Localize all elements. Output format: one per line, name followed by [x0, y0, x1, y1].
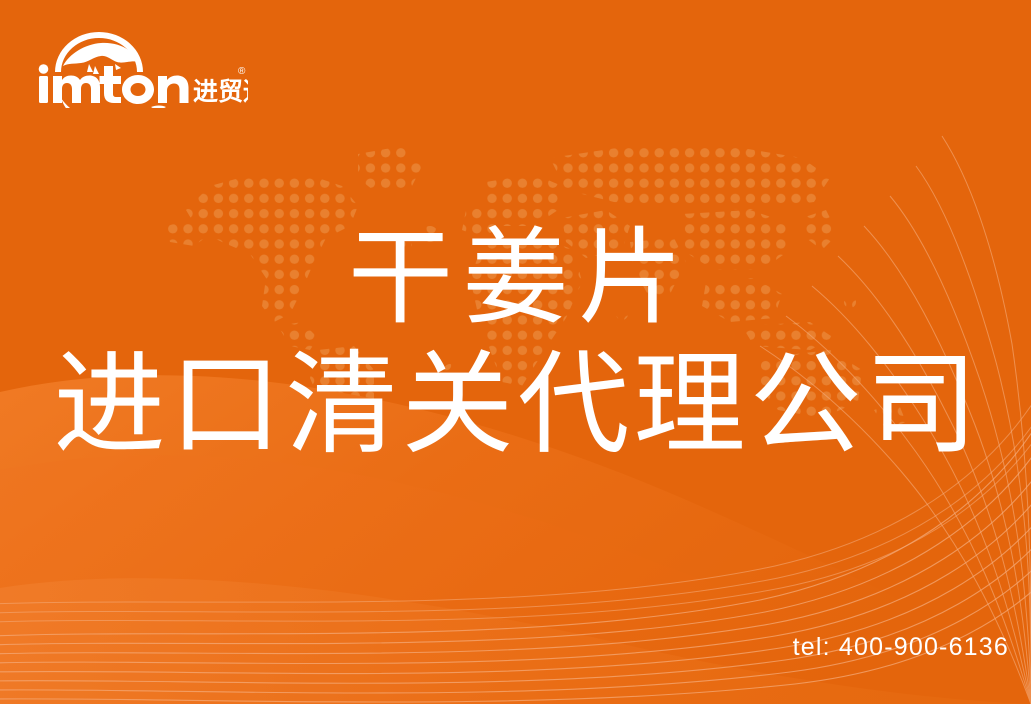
- trademark-symbol: ®: [238, 66, 246, 77]
- headline-line-1: 干姜片: [0, 216, 1031, 341]
- logo-chinese-name: 进贸通: [193, 77, 248, 106]
- globe-arc-icon: [55, 32, 143, 74]
- brand-logo[interactable]: 进贸通 ®: [33, 28, 248, 108]
- promo-banner: 进贸通 ® 干姜片 进口清关代理公司 tel: 400-900-6136: [0, 0, 1031, 704]
- headline-line-2: 进口清关代理公司: [0, 341, 1031, 469]
- contact-telephone: tel: 400-900-6136: [793, 632, 1009, 662]
- headline-block: 干姜片 进口清关代理公司: [0, 216, 1031, 469]
- logo-wordmark: [39, 64, 189, 104]
